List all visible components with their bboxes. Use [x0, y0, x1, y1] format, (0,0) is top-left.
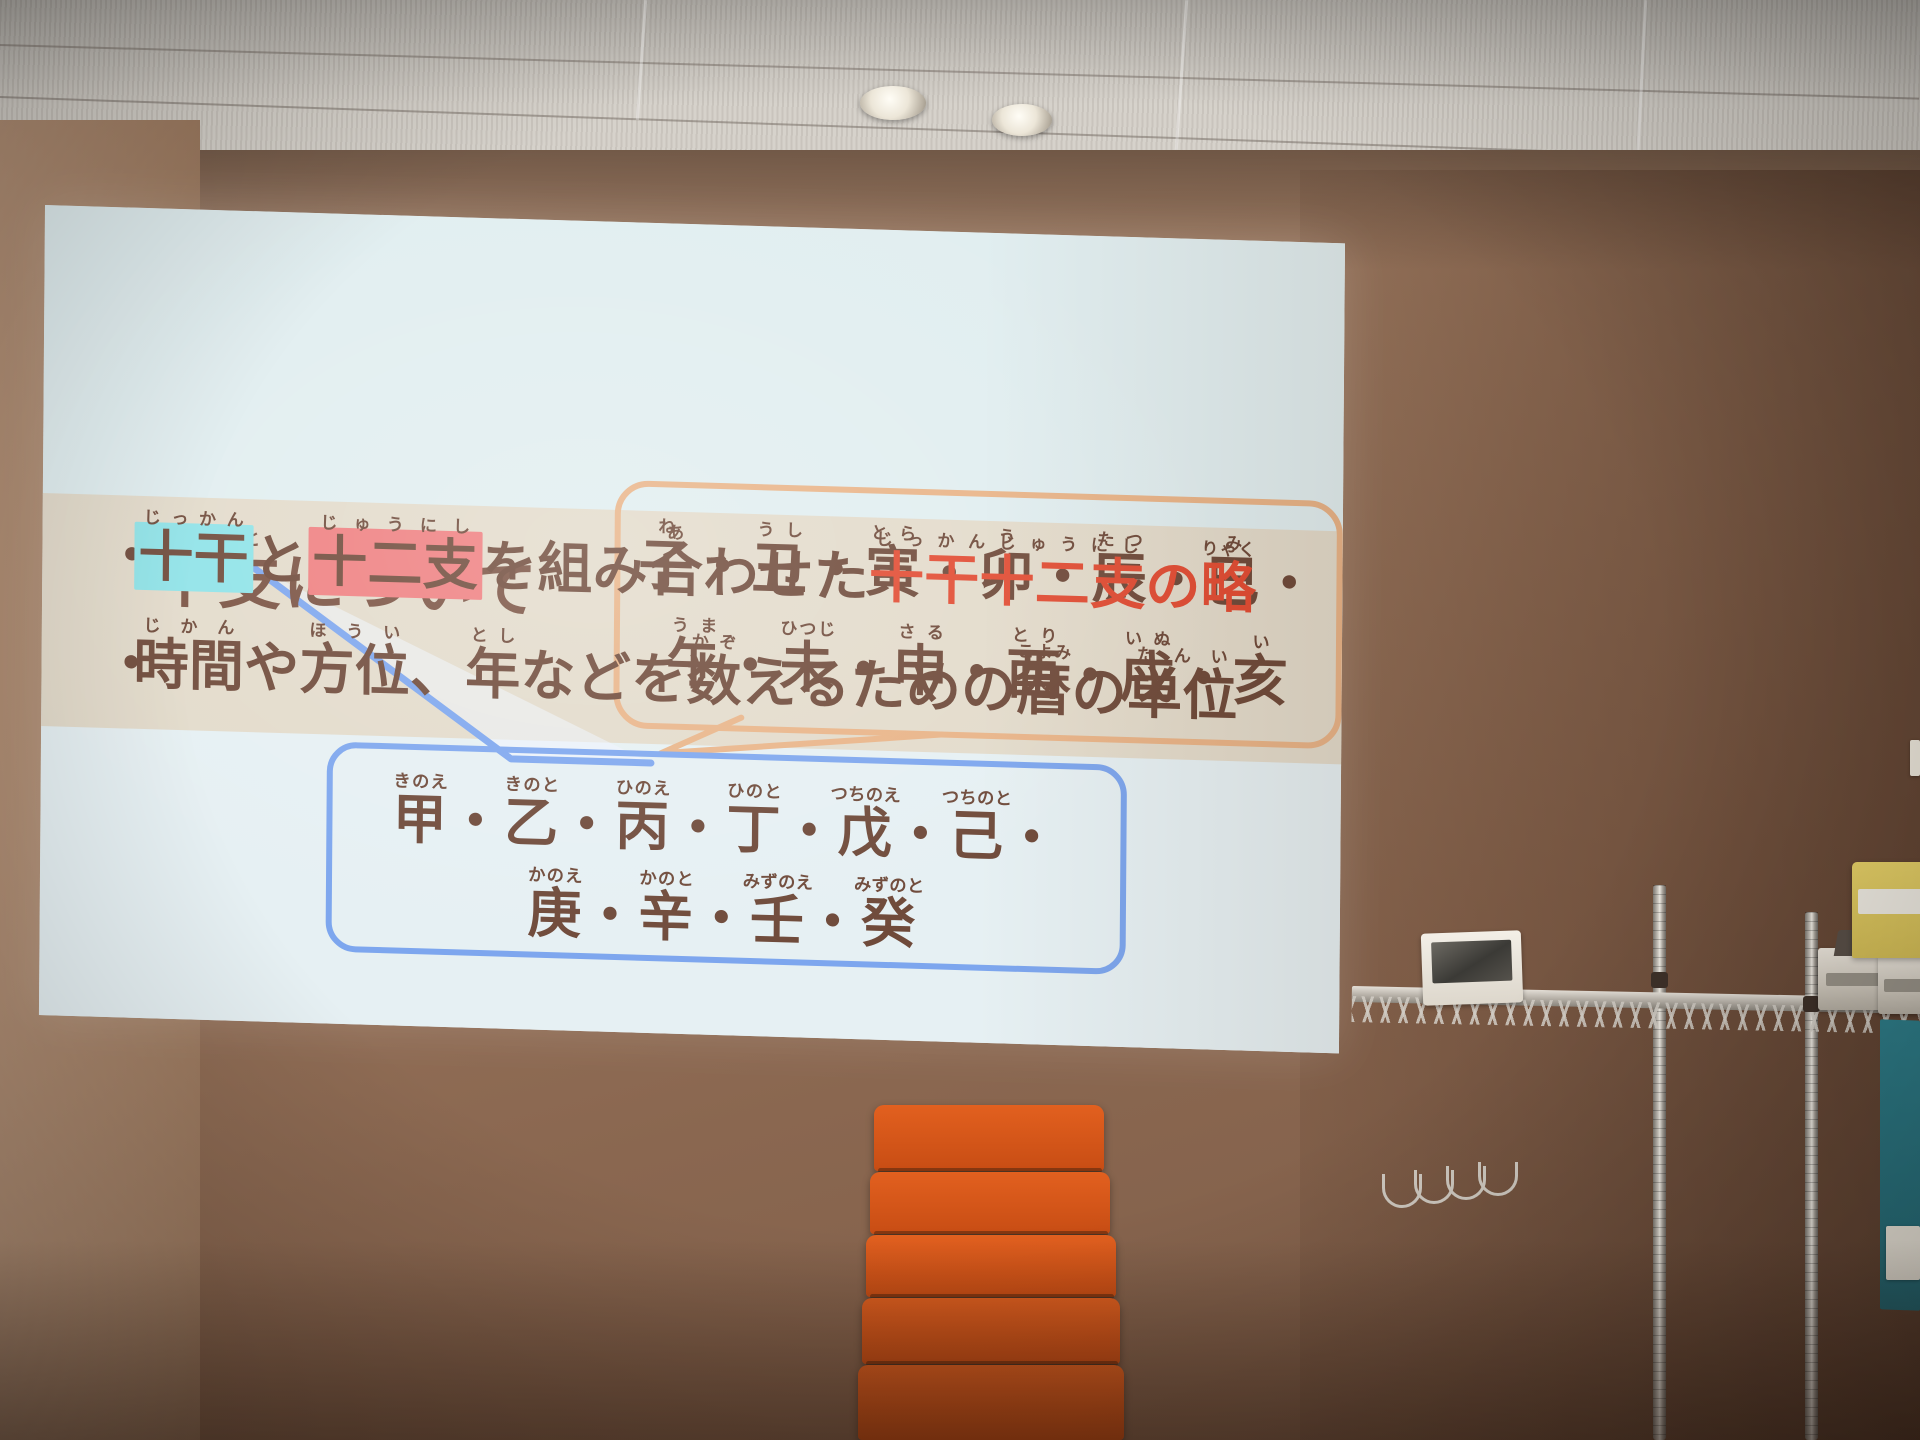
zodiac-i: 亥い: [1232, 648, 1289, 714]
ceiling-downlight: [992, 104, 1052, 136]
term-jikkanjunishi: 十干十二支じっかんじゅうにし: [869, 545, 1146, 617]
kanji-awaseta: 合あ: [648, 539, 704, 605]
stem-hinoe: 丙ひのえ: [615, 794, 671, 859]
yellow-storage-bag: [1852, 862, 1920, 958]
suffix-no: の: [1145, 554, 1201, 620]
classroom-scene: 干え支とについて 子ね・丑うし・寅とら・卯う・辰たつ・巳み・ 午うま・未ひつじ・…: [0, 0, 1920, 1440]
bag-label: [1858, 889, 1920, 914]
stem-ruby-hinoe: ひのえ: [615, 778, 671, 800]
term-ryaku-ruby: 略りゃく: [1200, 555, 1256, 621]
ruby-koyomi: こよみ: [1017, 642, 1072, 664]
ceiling-tiles: [0, 0, 1920, 175]
rack-collar: [1651, 972, 1668, 988]
stacked-chair-2: [870, 1172, 1110, 1234]
stem-ruby-hinoto: ひのと: [727, 781, 783, 803]
particle-ya: や: [244, 635, 300, 701]
stem-tsuchinoe: 戊つちのえ: [837, 801, 893, 866]
term-ryaku: 略りゃく: [1200, 555, 1256, 621]
term-jikkanjunishi-ruby: 十干十二支じっかんじゅうにし: [869, 545, 1146, 617]
phrase-erutameno: えるための: [741, 650, 1016, 722]
phrase-wo-kumi: を組み: [482, 534, 648, 603]
projection-screen: 干え支とについて 子ね・丑うし・寅とら・卯う・辰たつ・巳み・ 午うま・未ひつじ・…: [39, 205, 1345, 1053]
stem-ruby-mizunoe: みずのえ: [743, 872, 814, 894]
bullet-marker: ・: [104, 510, 135, 591]
stem-ruby-kanoto: かのと: [639, 869, 695, 891]
ruby-junishi: じゅうにし: [312, 513, 478, 538]
stems-row-1: 甲きのえ・乙きのと・丙ひのえ・丁ひのと・戊つちのえ・己つちのと・: [332, 770, 1121, 875]
stem-kinoe: 甲きのえ: [392, 787, 448, 852]
particle-no: の: [1071, 659, 1127, 725]
ruby-a: あ: [648, 523, 703, 545]
heavenly-stems-box: 甲きのえ・乙きのと・丙ひのえ・丁ひのと・戊つちのえ・己つちのと・ 庚かのえ・辛か…: [325, 741, 1127, 975]
stem-ruby-kinoe: きのえ: [393, 771, 449, 793]
ruby-jikan: じかん: [134, 616, 245, 639]
ruby-ryaku: りゃく: [1201, 539, 1256, 561]
stems-row-2: 庚かのえ・辛かのと・壬みずのえ・癸みずのと: [332, 860, 1121, 965]
equipment-label-strip: [1826, 973, 1882, 987]
stem-kinoto: 乙きのと: [504, 791, 560, 856]
stacked-chair-top: [874, 1105, 1104, 1171]
term-jikkan-highlight: 十干じっかん: [134, 522, 253, 593]
floor-shadow: [0, 1240, 1920, 1440]
ruby-tani: たんい: [1127, 645, 1238, 668]
term-tani: 単位たんい: [1127, 661, 1238, 728]
control-panel-device: [1421, 930, 1523, 1005]
ruby-toshi: とし: [465, 625, 520, 647]
stem-ruby-tsuchinoe: つちのえ: [831, 784, 902, 806]
device-screen: [1431, 939, 1512, 984]
stem-hinoto: 丁ひのと: [726, 797, 782, 862]
term-jikkan: 十干じっかん: [138, 524, 249, 591]
stem-mizunoto: 癸みずのと: [861, 891, 925, 956]
stem-kanoto: 辛かのと: [638, 885, 694, 950]
bullet-marker: ・: [103, 618, 134, 699]
ruby-jikkan: じっかん: [139, 508, 250, 531]
equipment-box-2: [1878, 956, 1920, 1014]
term-houi: 方位ほうい: [299, 637, 410, 704]
ruby-kazo: かぞ: [687, 632, 742, 654]
conjunction-to: と: [253, 527, 309, 593]
term-jikan: 時間じかん: [133, 632, 244, 699]
term-junishi: 十二支じゅうにし: [312, 529, 478, 598]
phrase-nadowo: などを: [520, 643, 686, 712]
comma: 、: [410, 640, 466, 706]
term-kazo: 数かぞ: [686, 648, 742, 714]
shelf-small-card: [1910, 740, 1920, 776]
term-koyomi: 暦こよみ: [1016, 658, 1072, 724]
stem-ruby-kinoto: きのと: [504, 775, 560, 797]
stem-ruby-tsuchinoto: つちのと: [942, 788, 1013, 810]
zodiac-ruby-i: い: [1233, 632, 1290, 654]
stem-kanoe: 庚かのえ: [527, 881, 583, 946]
stem-tsuchinoto: 己つちのと: [949, 804, 1005, 869]
phrase-waseta: わせた: [703, 540, 869, 609]
equipment-label-strip: [1884, 979, 1920, 992]
term-toshi: 年とし: [465, 641, 521, 707]
ceiling-downlight: [860, 86, 926, 120]
ruby-houi: ほうい: [300, 621, 411, 644]
stem-ruby-mizunoto: みずのと: [854, 875, 925, 897]
stem-ruby-kanoe: かのえ: [528, 865, 584, 887]
term-junishi-highlight: 十二支じゅうにし: [308, 527, 482, 600]
stem-mizunoe: 壬みずのえ: [750, 888, 806, 953]
